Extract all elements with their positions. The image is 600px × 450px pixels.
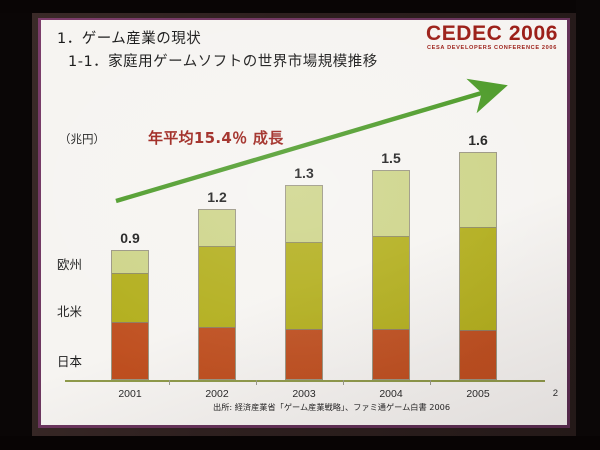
bar-value-2002: 1.2 bbox=[187, 189, 247, 205]
chart-baseline bbox=[65, 380, 545, 382]
bar-segment-europe bbox=[460, 153, 496, 227]
source-citation: 出所: 経済産業省「ゲーム産業戦略」、ファミ通ゲーム白書 2006 bbox=[213, 401, 450, 413]
bar-2001 bbox=[111, 250, 149, 380]
bar-segment-japan bbox=[286, 329, 322, 379]
bar-segment-japan bbox=[373, 329, 409, 379]
projector-photo: 1．ゲーム産業の現状 1-1．家庭用ゲームソフトの世界市場規模推移 CEDEC … bbox=[0, 0, 600, 450]
axis-tick bbox=[169, 380, 170, 385]
x-axis-label-2001: 2001 bbox=[100, 388, 160, 400]
x-axis-label-2005: 2005 bbox=[448, 388, 508, 400]
room-dark-left bbox=[0, 0, 32, 450]
bar-value-2004: 1.5 bbox=[361, 150, 421, 166]
room-dark-bottom bbox=[0, 436, 600, 450]
bar-segment-north-america bbox=[373, 236, 409, 329]
bar-value-2005: 1.6 bbox=[448, 132, 508, 148]
bar-segment-north-america bbox=[286, 242, 322, 329]
bar-2005 bbox=[459, 152, 497, 380]
x-axis-label-2003: 2003 bbox=[274, 388, 334, 400]
bar-2003 bbox=[285, 185, 323, 380]
axis-tick bbox=[343, 380, 344, 385]
x-axis-label-2002: 2002 bbox=[187, 388, 247, 400]
bar-segment-europe bbox=[286, 186, 322, 242]
bar-value-2001: 0.9 bbox=[100, 230, 160, 246]
bar-segment-north-america bbox=[199, 246, 235, 327]
bar-segment-north-america bbox=[460, 227, 496, 330]
bar-segment-europe bbox=[112, 251, 148, 273]
room-dark-right bbox=[576, 0, 600, 450]
bar-segment-japan bbox=[460, 330, 496, 379]
bar-segment-europe bbox=[199, 210, 235, 246]
room-dark-top bbox=[0, 0, 600, 13]
slide-page-number: 2 bbox=[553, 388, 558, 399]
legend-label-europe: 欧州 bbox=[57, 254, 82, 273]
bar-segment-japan bbox=[112, 322, 148, 379]
bar-segment-europe bbox=[373, 171, 409, 236]
presentation-slide: 1．ゲーム産業の現状 1-1．家庭用ゲームソフトの世界市場規模推移 CEDEC … bbox=[41, 20, 567, 425]
bar-segment-north-america bbox=[112, 273, 148, 322]
axis-tick bbox=[430, 380, 431, 385]
legend-label-japan: 日本 bbox=[57, 351, 82, 370]
legend-label-north-america: 北米 bbox=[57, 301, 82, 320]
x-axis-label-2004: 2004 bbox=[361, 388, 421, 400]
stacked-bar-chart: 欧州 北米 日本 0.9 2001 1.2 2002 bbox=[41, 20, 567, 425]
bar-value-2003: 1.3 bbox=[274, 165, 334, 181]
bar-2004 bbox=[372, 170, 410, 380]
axis-tick bbox=[256, 380, 257, 385]
bar-segment-japan bbox=[199, 327, 235, 379]
bar-2002 bbox=[198, 209, 236, 380]
